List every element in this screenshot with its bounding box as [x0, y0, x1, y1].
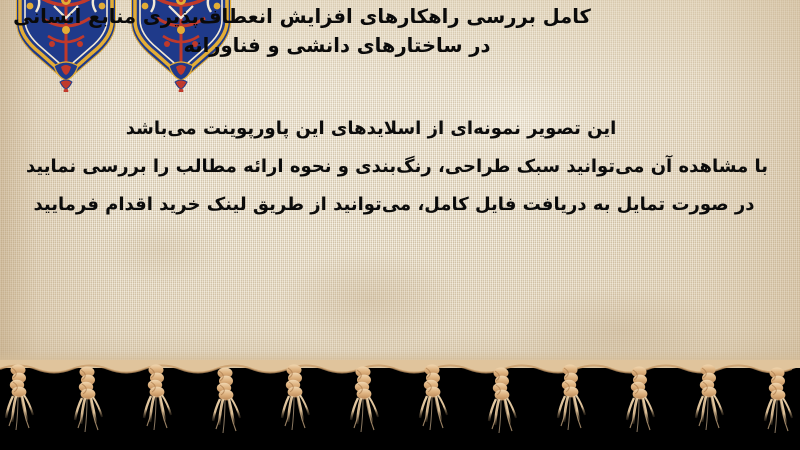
carpet-fringe: [0, 360, 800, 450]
title-line-2: در ساختارهای دانشی و فناورانه: [12, 31, 782, 60]
title-line-1: کامل بررسی راهکارهای افزایش انعطاف‌پذیری…: [12, 2, 782, 31]
body-line-1: این تصویر نمونه‌ای از اسلایدهای این پاور…: [18, 110, 780, 148]
slide-title: کامل بررسی راهکارهای افزایش انعطاف‌پذیری…: [12, 2, 782, 60]
body-line-3: در صورت تمایل به دریافت فایل کامل، می‌تو…: [18, 186, 780, 224]
slide-body: این تصویر نمونه‌ای از اسلایدهای این پاور…: [18, 110, 780, 224]
slide-text-layer: کامل بررسی راهکارهای افزایش انعطاف‌پذیری…: [0, 0, 800, 368]
presentation-slide: کامل بررسی راهکارهای افزایش انعطاف‌پذیری…: [0, 0, 800, 450]
body-line-2: با مشاهده آن می‌توانید سبک طراحی، رنگ‌بن…: [18, 148, 780, 186]
